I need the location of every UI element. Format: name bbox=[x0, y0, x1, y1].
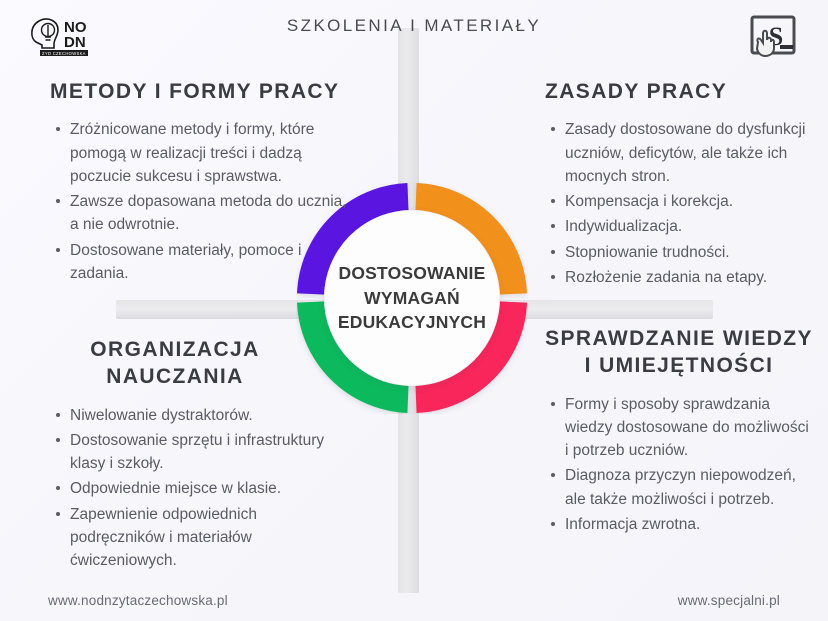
list-item: Stopniowanie trudności. bbox=[565, 241, 813, 264]
quadrant-list-metody: Zróżnicowane metody i formy, które pomog… bbox=[50, 118, 350, 285]
list-item: Kompensacja i korekcja. bbox=[565, 190, 813, 213]
list-item: Informacja zwrotna. bbox=[565, 513, 813, 536]
quadrant-top-left: METODY I FORMY PRACY Zróżnicowane metody… bbox=[50, 78, 350, 287]
infographic-canvas: NO DN ZYD CZECHOWSKA S SZKOLENIA I MATER… bbox=[0, 0, 828, 621]
quadrant-bottom-left: ORGANIZACJA NAUCZANIA Niwelowanie dystra… bbox=[50, 336, 350, 574]
list-item: Zawsze dopasowana metoda do ucznia, a ni… bbox=[70, 190, 350, 237]
list-item: Dostosowane materiały, pomoce i zadania. bbox=[70, 239, 350, 286]
quadrant-list-zasady: Zasady dostosowane do dysfunkcji uczniów… bbox=[545, 118, 813, 289]
footer-url-right[interactable]: www.specjalni.pl bbox=[678, 593, 780, 608]
quadrant-heading-zasady: ZASADY PRACY bbox=[545, 78, 813, 105]
svg-text:DN: DN bbox=[64, 34, 86, 51]
list-item: Diagnoza przyczyn niepowodzeń, ale także… bbox=[565, 464, 813, 511]
quadrant-top-right: ZASADY PRACY Zasady dostosowane do dysfu… bbox=[545, 78, 813, 291]
center-line-3: EDUKACYJNYCH bbox=[338, 310, 486, 335]
list-item: Indywidualizacja. bbox=[565, 215, 813, 238]
list-item: Zasady dostosowane do dysfunkcji uczniów… bbox=[565, 118, 813, 188]
center-line-1: DOSTOSOWANIE bbox=[339, 261, 486, 286]
list-item: Dostosowanie sprzętu i infrastruktury kl… bbox=[70, 429, 350, 476]
quadrant-list-sprawdzanie: Formy i sposoby sprawdzania wiedzy dosto… bbox=[545, 393, 813, 537]
quadrant-heading-metody: METODY I FORMY PRACY bbox=[50, 78, 350, 105]
list-item: Rozłożenie zadania na etapy. bbox=[565, 266, 813, 289]
quadrant-bottom-right: SPRAWDZANIE WIEDZY I UMIEJĘTNOŚCI Formy … bbox=[545, 325, 813, 538]
list-item: Zapewnienie odpowiednich podręczników i … bbox=[70, 503, 350, 573]
footer-url-left[interactable]: www.nodnzytaczechowska.pl bbox=[48, 593, 228, 608]
center-line-2: WYMAGAŃ bbox=[364, 286, 460, 311]
page-title: SZKOLENIA I MATERIAŁY bbox=[0, 16, 828, 36]
svg-text:ZYD CZECHOWSKA: ZYD CZECHOWSKA bbox=[42, 51, 86, 56]
list-item: Formy i sposoby sprawdzania wiedzy dosto… bbox=[565, 393, 813, 463]
quadrant-heading-sprawdzanie: SPRAWDZANIE WIEDZY I UMIEJĘTNOŚCI bbox=[545, 325, 813, 380]
list-item: Zróżnicowane metody i formy, które pomog… bbox=[70, 118, 350, 188]
quadrant-list-organizacja: Niwelowanie dystraktorów. Dostosowanie s… bbox=[50, 404, 350, 573]
list-item: Niwelowanie dystraktorów. bbox=[70, 404, 350, 427]
list-item: Odpowiednie miejsce w klasie. bbox=[70, 477, 350, 500]
quadrant-heading-organizacja: ORGANIZACJA NAUCZANIA bbox=[50, 336, 350, 391]
